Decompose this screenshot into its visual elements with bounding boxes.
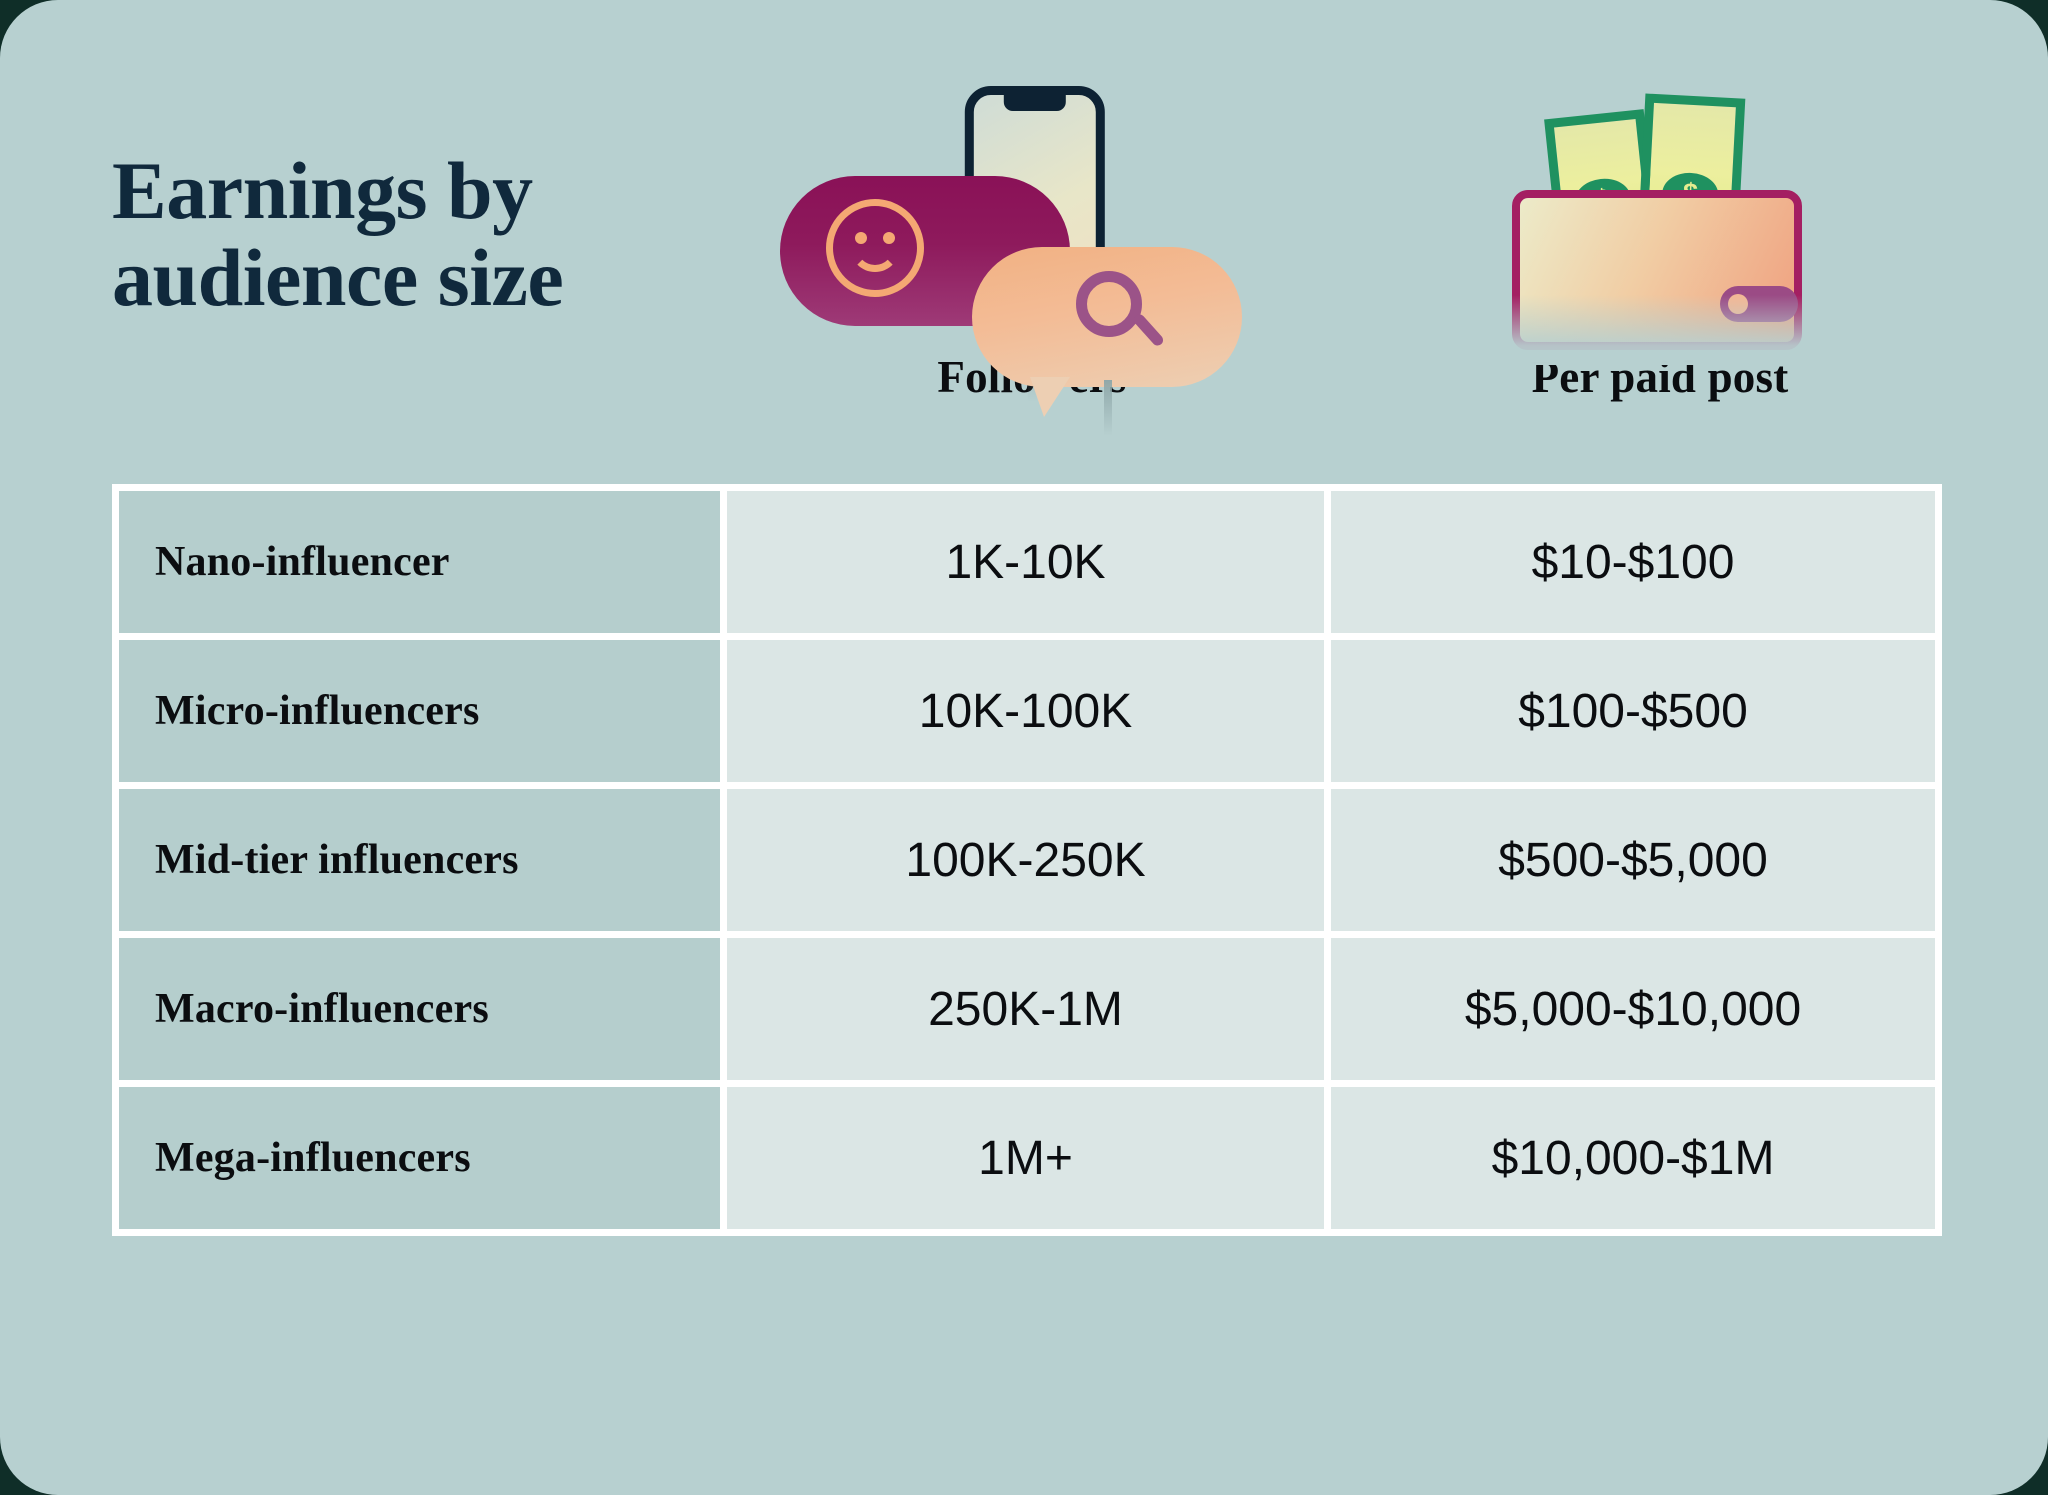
speech-bubble-tail-icon <box>1030 377 1070 417</box>
table-row: Mid-tier influencers 100K-250K $500-$5,0… <box>119 789 1935 938</box>
table-row: Nano-influencer 1K-10K $10-$100 <box>119 491 1935 640</box>
tier-cell: Micro-influencers <box>119 640 727 782</box>
table-row: Micro-influencers 10K-100K $100-$500 <box>119 640 1935 789</box>
infographic-card: Earnings by audience size <box>0 0 2048 1495</box>
wallet-fade-decoration <box>1512 295 1802 365</box>
tier-cell: Nano-influencer <box>119 491 727 633</box>
per-paid-post-cell: $10-$100 <box>1331 491 1935 633</box>
smiley-face-icon <box>826 199 924 297</box>
per-paid-post-cell: $5,000-$10,000 <box>1331 938 1935 1080</box>
column-header-followers: Followers <box>752 80 1312 450</box>
followers-illustration <box>752 80 1312 345</box>
followers-cell: 10K-100K <box>727 640 1331 782</box>
followers-cell: 100K-250K <box>727 789 1331 931</box>
followers-cell: 1M+ <box>727 1087 1331 1229</box>
wallet-icon: $ $ <box>1490 90 1830 345</box>
followers-cell: 1K-10K <box>727 491 1331 633</box>
header-section: Earnings by audience size <box>0 0 2048 470</box>
tier-cell: Mega-influencers <box>119 1087 727 1229</box>
column-header-per-paid-post: $ $ Per paid post <box>1380 80 1940 450</box>
wallet-illustration: $ $ <box>1380 80 1940 345</box>
per-paid-post-cell: $100-$500 <box>1331 640 1935 782</box>
smiley-mouth-icon <box>850 240 900 272</box>
followers-cell: 250K-1M <box>727 938 1331 1080</box>
tier-cell: Mid-tier influencers <box>119 789 727 931</box>
magnifier-icon <box>1076 271 1142 337</box>
table-row: Mega-influencers 1M+ $10,000-$1M <box>119 1087 1935 1229</box>
earnings-table: Nano-influencer 1K-10K $10-$100 Micro-in… <box>112 484 1942 1236</box>
page-title: Earnings by audience size <box>112 148 732 322</box>
phone-notch-icon <box>1004 94 1066 111</box>
per-paid-post-cell: $10,000-$1M <box>1331 1087 1935 1229</box>
bubble-stem-decoration <box>1104 380 1112 436</box>
tier-cell: Macro-influencers <box>119 938 727 1080</box>
table-row: Macro-influencers 250K-1M $5,000-$10,000 <box>119 938 1935 1087</box>
per-paid-post-cell: $500-$5,000 <box>1331 789 1935 931</box>
search-speech-bubble-icon <box>972 247 1242 387</box>
magnifier-handle-icon <box>1132 312 1166 348</box>
